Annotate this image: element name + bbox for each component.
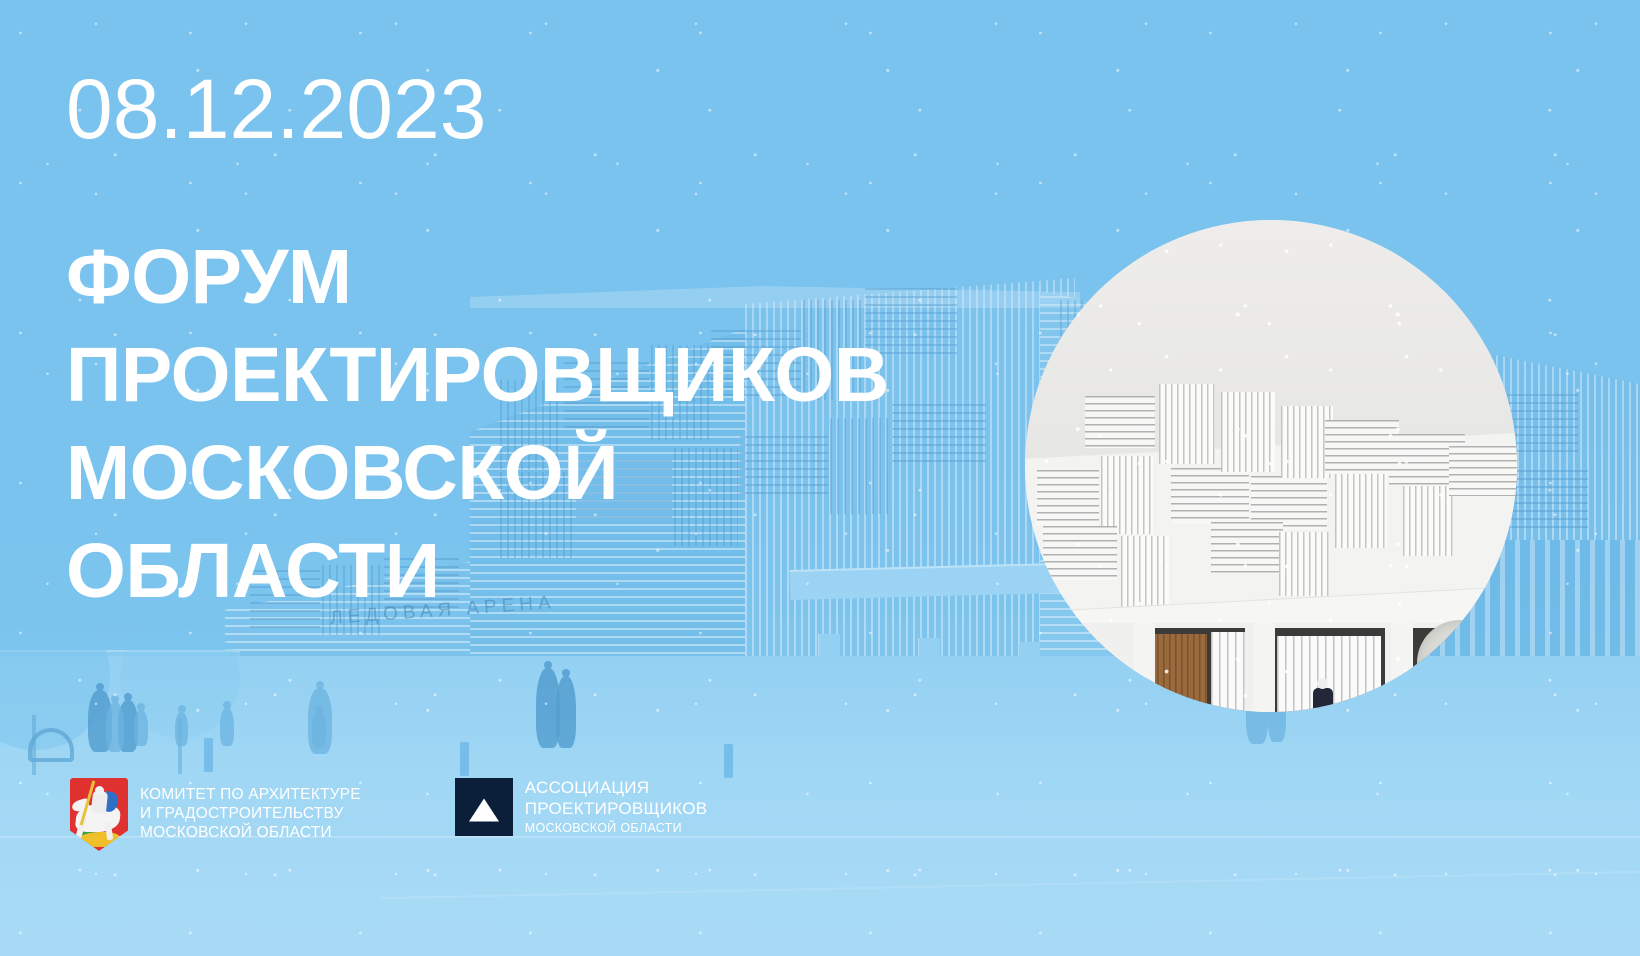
inset-column: [1133, 623, 1155, 712]
inset-facade-panel: [1335, 474, 1387, 548]
inset-facade-panel: [1449, 446, 1517, 496]
inset-facade-panel: [1159, 384, 1215, 464]
logo-komitet-line-2: И ГРАДОСТРОИТЕЛЬСТВУ: [140, 805, 361, 824]
logo-komitet: КОМИТЕТ ПО АРХИТЕКТУРЕ И ГРАДОСТРОИТЕЛЬС…: [70, 778, 361, 851]
inset-column: [1253, 623, 1275, 712]
bollard: [724, 744, 733, 778]
person-silhouette: [134, 710, 148, 746]
headline-line-4: ОБЛАСТИ: [66, 522, 889, 620]
headline-line-2: ПРОЕКТИРОВЩИКОВ: [66, 326, 889, 424]
person-silhouette: [220, 708, 234, 746]
person-silhouette: [175, 712, 188, 746]
inset-person: [1313, 688, 1333, 712]
coat-of-arms-icon: [70, 778, 128, 851]
person-silhouette: [106, 702, 124, 752]
inset-facade-panel: [1171, 468, 1249, 524]
inset-foliage: [1417, 620, 1503, 706]
logo-association-line-2: ПРОЕКТИРОВЩИКОВ: [525, 799, 708, 820]
inset-facade-panel: [1043, 526, 1117, 580]
headline-line-3: МОСКОВСКОЙ: [66, 424, 889, 522]
event-poster: ЛЕДОВАЯ АРЕНА: [0, 0, 1640, 956]
person-silhouette: [312, 712, 326, 748]
logo-komitet-text: КОМИТЕТ ПО АРХИТЕКТУРЕ И ГРАДОСТРОИТЕЛЬС…: [140, 786, 361, 843]
inset-facade-panel: [1085, 396, 1155, 448]
inset-vertical-slats: [1211, 632, 1245, 712]
inset-facade-panel: [1037, 470, 1099, 526]
triangle-icon: [455, 778, 513, 836]
logo-komitet-line-1: КОМИТЕТ ПО АРХИТЕКТУРЕ: [140, 786, 361, 805]
inset-wood-screen: [1151, 634, 1207, 712]
bollard: [460, 742, 469, 776]
logo-association-line-1: АССОЦИАЦИЯ: [525, 778, 708, 799]
inset-facade-panel: [1279, 532, 1329, 596]
logo-association: АССОЦИАЦИЯ ПРОЕКТИРОВЩИКОВ МОСКОВСКОЙ ОБ…: [455, 778, 708, 836]
logo-row: КОМИТЕТ ПО АРХИТЕКТУРЕ И ГРАДОСТРОИТЕЛЬС…: [70, 778, 707, 851]
logo-association-text: АССОЦИАЦИЯ ПРОЕКТИРОВЩИКОВ МОСКОВСКОЙ ОБ…: [525, 778, 708, 836]
inset-facade-panel: [1121, 536, 1169, 610]
event-date: 08.12.2023: [66, 67, 486, 151]
inset-facade-panel: [1325, 420, 1399, 474]
inset-facade-panel: [1211, 522, 1283, 574]
inset-facade-panel: [1221, 392, 1275, 472]
circular-photo-inset: [1025, 220, 1517, 712]
inset-facade-panel: [1403, 486, 1453, 556]
inset-column: [1391, 623, 1413, 712]
headline-line-1: ФОРУМ: [66, 228, 889, 326]
facade-panel: [892, 404, 986, 464]
inset-facade-panel: [1101, 456, 1153, 534]
logo-association-line-3: МОСКОВСКОЙ ОБЛАСТИ: [525, 821, 708, 836]
bollard: [204, 738, 213, 772]
logo-komitet-line-3: МОСКОВСКОЙ ОБЛАСТИ: [140, 824, 361, 843]
inset-person-head: [1317, 678, 1328, 689]
person-silhouette: [556, 676, 576, 748]
page-title: ФОРУМ ПРОЕКТИРОВЩИКОВ МОСКОВСКОЙ ОБЛАСТИ: [66, 228, 889, 620]
